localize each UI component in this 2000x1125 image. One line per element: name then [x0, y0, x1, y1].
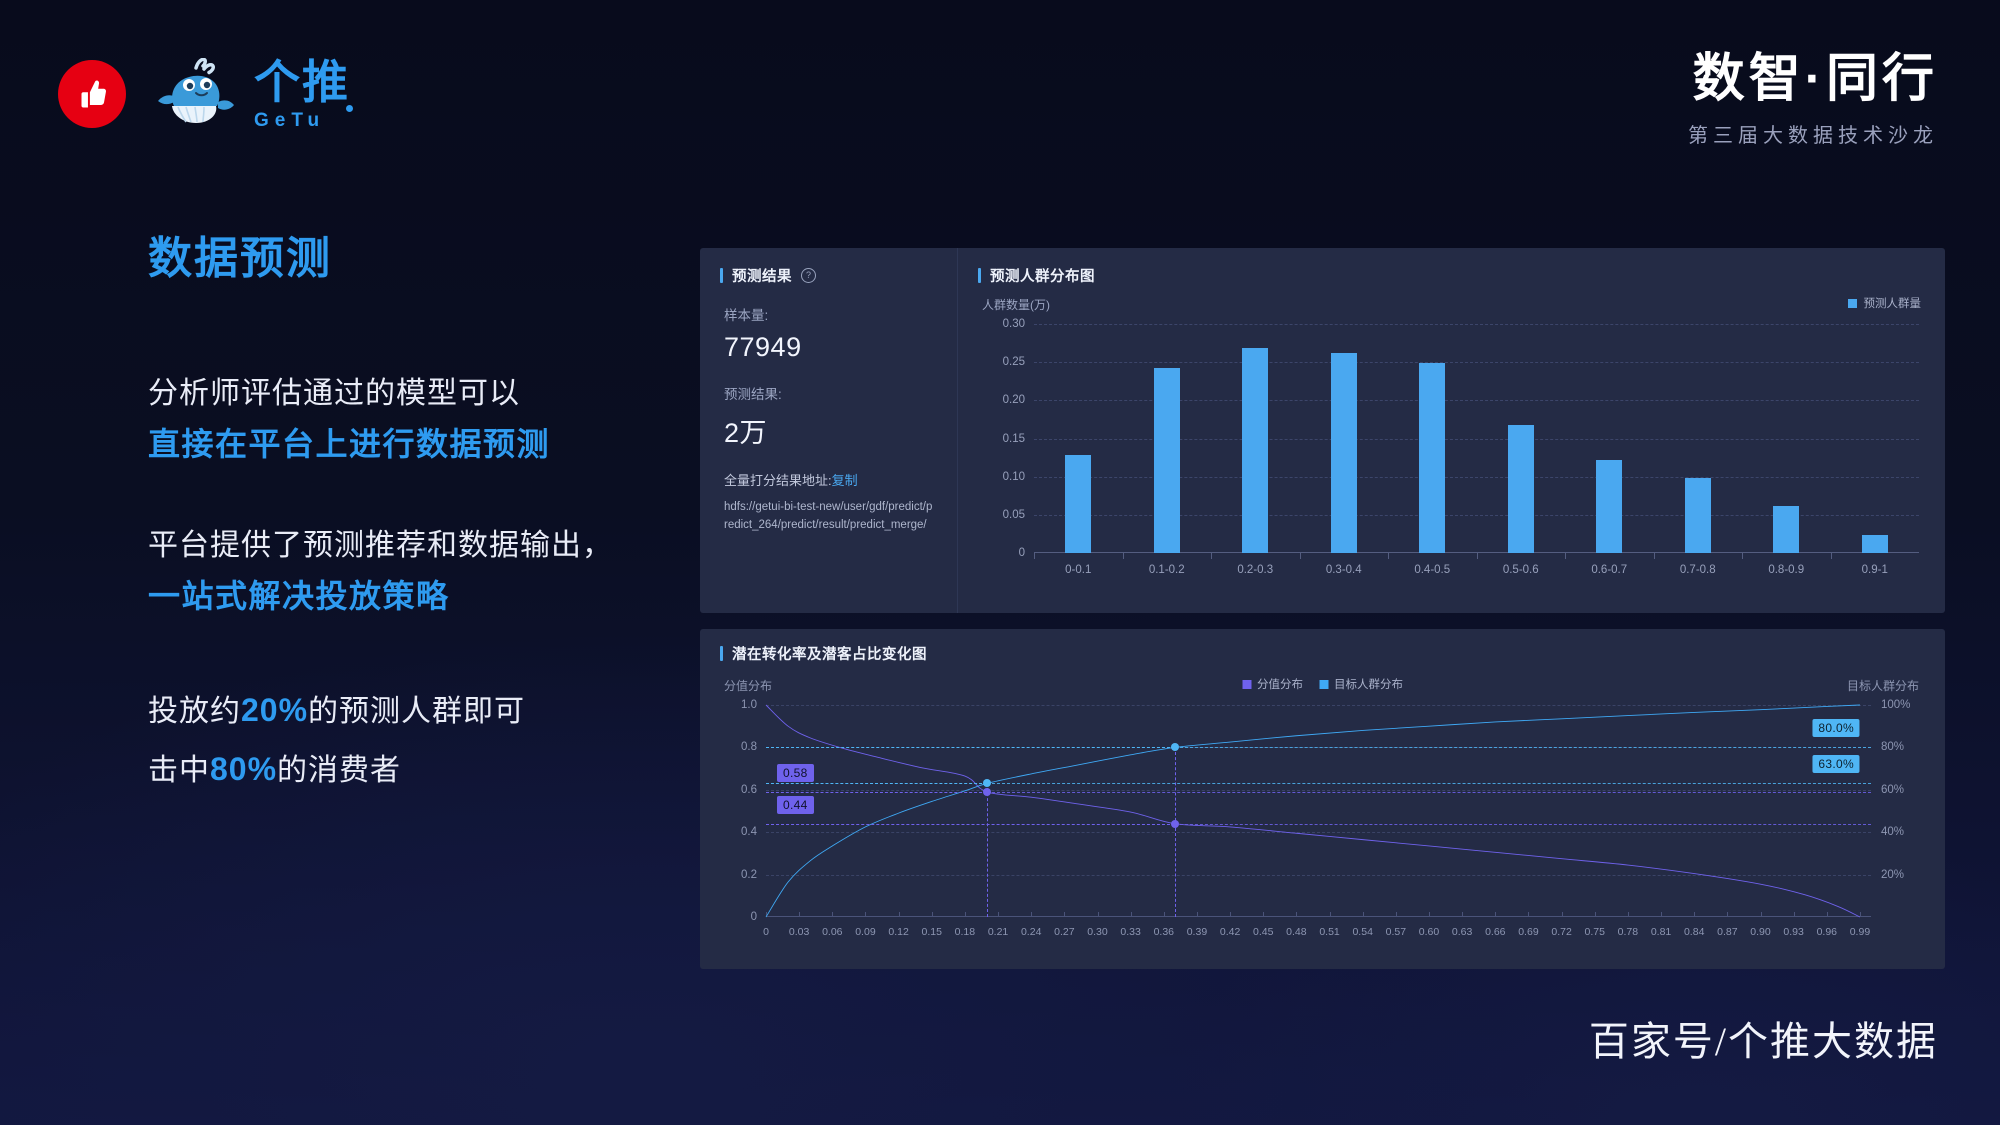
bar-chart-legend[interactable]: 预测人群量	[1848, 295, 1922, 311]
line-chart-y-tick: 0.8	[741, 741, 757, 753]
line-chart-y2-axis-label: 目标人群分布	[1847, 677, 1919, 694]
x-tick-mark	[1388, 553, 1389, 559]
bar-item[interactable]: 0-0.1	[1034, 324, 1123, 553]
stat-2-suffix: 的消费者	[277, 754, 401, 787]
line-chart-x-tick: 0.60	[1419, 926, 1439, 938]
bar-chart-x-tick: 0.3-0.4	[1326, 564, 1362, 576]
line-chart-x-tick: 0.18	[955, 926, 975, 938]
line-chart-y-tick: 0.6	[741, 784, 757, 796]
watermark: 百家号/个推大数据	[1589, 1009, 1938, 1067]
line-chart-x-tick: 0.90	[1750, 926, 1770, 938]
bar-chart-x-tick: 0.1-0.2	[1149, 564, 1185, 576]
bar-chart-x-tick: 0.4-0.5	[1414, 564, 1450, 576]
score-address-label: 全量打分结果地址:	[724, 473, 832, 488]
line-chart-legend[interactable]: 分值分布 目标人群分布	[1242, 676, 1403, 692]
marker-guide-vertical	[1175, 747, 1176, 917]
paragraph-1-line-1: 分析师评估通过的模型可以	[148, 370, 708, 419]
x-tick-mark	[1300, 553, 1301, 559]
x-tick-mark	[1654, 553, 1655, 559]
marker-guide-horizontal-right	[1175, 747, 1871, 748]
logo-en-label: GeTu	[254, 110, 325, 131]
line-chart-y-tick: 0	[751, 911, 757, 923]
predict-result-value: 2万	[724, 411, 935, 450]
line-series-score	[766, 705, 1860, 917]
slide-root: 个推 GeTu 数智·同行 第三届大数据技术沙龙 数据预测 分析师评估通过的模型…	[0, 0, 2000, 1125]
bar-chart-x-tick: 0.7-0.8	[1680, 564, 1716, 576]
crowd-distribution-title: 预测人群分布图	[990, 265, 1095, 286]
bar-chart-y-axis-label: 人群数量(万)	[982, 296, 1050, 313]
page-title: 数据预测	[148, 222, 708, 286]
bar-chart-y-tick: 0	[1019, 547, 1025, 559]
line-chart-x-tick: 0.27	[1054, 926, 1074, 938]
score-address-row: 全量打分结果地址:复制	[724, 470, 935, 489]
logo-text-en: GeTu	[254, 111, 350, 130]
line-chart-y-axis-label: 分值分布	[724, 677, 772, 694]
logo-text-cn: 个推	[254, 59, 350, 105]
x-tick-mark	[1565, 553, 1566, 559]
bar-chart-y-tick: 0.20	[1003, 394, 1025, 406]
left-content: 数据预测 分析师评估通过的模型可以 直接在平台上进行数据预测 平台提供了预测推荐…	[148, 222, 708, 799]
line-chart-plot-area: 00.20.40.60.81.020%40%60%80%100%00.030.0…	[766, 705, 1871, 917]
getui-logo: 个推 GeTu	[152, 58, 350, 130]
prediction-result-body: 样本量: 77949 预测结果: 2万 全量打分结果地址:复制 hdfs://g…	[700, 286, 957, 535]
line-chart-x-tick: 0.39	[1187, 926, 1207, 938]
thumbs-up-icon	[58, 60, 126, 128]
x-tick-mark	[1034, 553, 1035, 559]
marker-guide-horizontal	[766, 824, 1175, 825]
data-point-marker[interactable]	[1171, 743, 1179, 751]
line-chart-x-tick: 0.93	[1783, 926, 1803, 938]
prediction-result-title: 预测结果	[732, 265, 792, 286]
bar[interactable]	[1773, 506, 1799, 553]
legend-swatch-icon	[1848, 299, 1857, 308]
logo-dot-icon	[346, 105, 353, 112]
line-chart-y2-tick: 80%	[1881, 741, 1904, 753]
line-series-target	[766, 705, 1860, 917]
bar-chart-plot-area: 00.050.100.150.200.250.300-0.10.1-0.20.2…	[1034, 324, 1919, 553]
bar-chart-y-tick: 0.30	[1003, 318, 1025, 330]
bar[interactable]	[1419, 363, 1445, 553]
bar-item[interactable]: 0.8-0.9	[1742, 324, 1831, 553]
accent-bar	[978, 268, 981, 283]
stat-1-suffix: 的预测人群即可	[308, 695, 525, 728]
line-chart-x-tick: 0.30	[1087, 926, 1107, 938]
data-label-badge: 63.0%	[1812, 755, 1860, 773]
event-title: 数智·同行	[1688, 52, 1938, 107]
bar-item[interactable]: 0.1-0.2	[1123, 324, 1212, 553]
stat-line-2: 击中80%的消费者	[148, 740, 708, 799]
event-subtitle: 第三届大数据技术沙龙	[1688, 119, 1938, 148]
bar-chart-x-tick: 0-0.1	[1065, 564, 1091, 576]
marker-guide-horizontal-right	[1175, 824, 1871, 825]
x-tick-mark	[1211, 553, 1212, 559]
bar-chart-x-tick: 0.2-0.3	[1237, 564, 1273, 576]
conversion-curve-header: 潜在转化率及潜客占比变化图	[700, 629, 1945, 664]
bar[interactable]	[1596, 460, 1622, 553]
legend-label-score: 分值分布	[1257, 676, 1303, 692]
line-chart-x-tick: 0.54	[1352, 926, 1372, 938]
marker-guide-horizontal	[766, 792, 987, 793]
bar[interactable]	[1154, 368, 1180, 553]
bar-chart-x-tick: 0.6-0.7	[1591, 564, 1627, 576]
data-label-badge: 0.44	[777, 796, 814, 814]
marker-guide-horizontal	[766, 747, 1175, 748]
line-chart-x-tick: 0.57	[1386, 926, 1406, 938]
bar-chart-y-tick: 0.10	[1003, 471, 1025, 483]
data-point-marker[interactable]	[983, 779, 991, 787]
help-icon[interactable]: ?	[801, 268, 816, 283]
line-chart-x-tick: 0.06	[822, 926, 842, 938]
line-chart-y2-tick: 40%	[1881, 826, 1904, 838]
line-chart-y-tick: 0.2	[741, 869, 757, 881]
crowd-distribution-header: 预测人群分布图	[958, 248, 1945, 286]
accent-bar	[720, 646, 723, 661]
bar[interactable]	[1862, 535, 1888, 553]
brand-header: 个推 GeTu	[58, 58, 350, 130]
line-chart-x-tick: 0.96	[1817, 926, 1837, 938]
sample-size-value: 77949	[724, 332, 935, 363]
line-chart-y2-tick: 100%	[1881, 699, 1910, 711]
legend-label: 预测人群量	[1864, 295, 1922, 311]
marker-guide-horizontal	[766, 783, 987, 784]
line-chart-x-tick: 0.72	[1551, 926, 1571, 938]
legend-swatch-blue-icon	[1319, 680, 1328, 689]
line-chart-x-tick: 0.84	[1684, 926, 1704, 938]
conversion-curve-card: 潜在转化率及潜客占比变化图 分值分布 目标人群分布 分值分布 目标人群分布 00…	[700, 629, 1945, 969]
line-chart-x-tick: 0.81	[1651, 926, 1671, 938]
line-chart-x-tick: 0.24	[1021, 926, 1041, 938]
paragraph-2: 平台提供了预测推荐和数据输出， 一站式解决投放策略	[148, 522, 708, 622]
score-address-path: hdfs://getui-bi-test-new/user/gdf/predic…	[724, 499, 935, 535]
bar-item[interactable]: 0.9-1	[1831, 324, 1920, 553]
line-chart-y2-tick: 20%	[1881, 869, 1904, 881]
line-chart-x-tick: 0.87	[1717, 926, 1737, 938]
bar-chart-y-tick: 0.25	[1003, 356, 1025, 368]
line-chart-x-tick: 0.33	[1120, 926, 1140, 938]
bar[interactable]	[1508, 425, 1534, 553]
data-point-marker[interactable]	[983, 788, 991, 796]
x-tick-mark	[1831, 553, 1832, 559]
bar-item[interactable]: 0.7-0.8	[1654, 324, 1743, 553]
x-tick-mark	[1123, 553, 1124, 559]
legend-label-target: 目标人群分布	[1334, 676, 1403, 692]
marker-guide-vertical	[987, 783, 988, 917]
line-chart-x-tick: 0.75	[1585, 926, 1605, 938]
line-chart-x-tick: 0.03	[789, 926, 809, 938]
bar-chart-x-tick: 0.9-1	[1862, 564, 1888, 576]
x-tick-mark	[1477, 553, 1478, 559]
bar[interactable]	[1331, 353, 1357, 553]
bar-chart-x-tick: 0.5-0.6	[1503, 564, 1539, 576]
legend-swatch-purple-icon	[1242, 680, 1251, 689]
bar[interactable]	[1065, 455, 1091, 553]
line-chart-x-tick: 0.09	[855, 926, 875, 938]
bar-item[interactable]: 0.5-0.6	[1477, 324, 1566, 553]
line-chart-x-tick: 0.99	[1850, 926, 1870, 938]
bar-chart-x-tick: 0.8-0.9	[1768, 564, 1804, 576]
stat-1-number: 20%	[241, 692, 308, 728]
bar[interactable]	[1685, 478, 1711, 553]
prediction-result-card: 预测结果 ? 样本量: 77949 预测结果: 2万 全量打分结果地址:复制 h…	[700, 248, 958, 613]
line-chart-x-tick: 0	[763, 926, 769, 938]
sample-size-label: 样本量:	[724, 304, 935, 324]
marker-guide-horizontal-right	[987, 783, 1871, 784]
paragraph-2-line-2: 一站式解决投放策略	[148, 571, 708, 623]
bar-item[interactable]: 0.3-0.4	[1300, 324, 1389, 553]
line-chart-x-tick: 0.51	[1319, 926, 1339, 938]
top-panel: 预测结果 ? 样本量: 77949 预测结果: 2万 全量打分结果地址:复制 h…	[700, 248, 1945, 613]
line-chart-x-tick: 0.63	[1452, 926, 1472, 938]
bar-chart-y-tick: 0.15	[1003, 433, 1025, 445]
paragraph-2-line-1: 平台提供了预测推荐和数据输出，	[148, 522, 708, 571]
line-chart-x-tick: 0.48	[1286, 926, 1306, 938]
bar-series: 0-0.10.1-0.20.2-0.30.3-0.40.4-0.50.5-0.6…	[1034, 324, 1919, 553]
line-chart-y-tick: 1.0	[741, 699, 757, 711]
conversion-curve-title: 潜在转化率及潜客占比变化图	[732, 643, 927, 664]
legend-item-score[interactable]: 分值分布	[1242, 676, 1303, 692]
line-chart-x-tick: 0.15	[922, 926, 942, 938]
stat-1-prefix: 投放约	[148, 695, 241, 728]
line-chart-y2-tick: 60%	[1881, 784, 1904, 796]
data-label-badge: 0.58	[777, 764, 814, 782]
stat-2-prefix: 击中	[148, 754, 210, 787]
line-chart-x-tick: 0.36	[1154, 926, 1174, 938]
stat-line-1: 投放约20%的预测人群即可	[148, 681, 708, 740]
x-tick-mark	[1742, 553, 1743, 559]
event-header: 数智·同行 第三届大数据技术沙龙	[1688, 52, 1938, 148]
marker-guide-horizontal-right	[987, 792, 1871, 793]
stat-highlight: 投放约20%的预测人群即可 击中80%的消费者	[148, 681, 708, 799]
prediction-result-header: 预测结果 ?	[700, 248, 957, 286]
data-point-marker[interactable]	[1171, 820, 1179, 828]
line-chart-x-tick: 0.45	[1253, 926, 1273, 938]
paragraph-1: 分析师评估通过的模型可以 直接在平台上进行数据预测	[148, 370, 708, 470]
line-chart-x-tick: 0.21	[988, 926, 1008, 938]
bar-chart-y-tick: 0.05	[1003, 509, 1025, 521]
bar-item[interactable]: 0.4-0.5	[1388, 324, 1477, 553]
legend-item-target[interactable]: 目标人群分布	[1319, 676, 1403, 692]
dashboard-screenshot: 预测结果 ? 样本量: 77949 预测结果: 2万 全量打分结果地址:复制 h…	[700, 248, 1945, 969]
line-chart-x-tick: 0.69	[1518, 926, 1538, 938]
bar[interactable]	[1242, 348, 1268, 553]
stat-2-number: 80%	[210, 751, 277, 787]
line-chart-x-tick: 0.42	[1220, 926, 1240, 938]
accent-bar	[720, 268, 723, 283]
bar-item[interactable]: 0.6-0.7	[1565, 324, 1654, 553]
bar-item[interactable]: 0.2-0.3	[1211, 324, 1300, 553]
line-chart-y-tick: 0.4	[741, 826, 757, 838]
line-chart-x-tick: 0.12	[888, 926, 908, 938]
predict-result-label: 预测结果:	[724, 383, 935, 403]
copy-link[interactable]: 复制	[832, 473, 858, 488]
line-chart-x-tick: 0.78	[1618, 926, 1638, 938]
data-label-badge: 80.0%	[1812, 719, 1860, 737]
line-chart-x-tick: 0.66	[1485, 926, 1505, 938]
line-series-svg	[766, 705, 1871, 917]
crowd-distribution-card: 预测人群分布图 人群数量(万) 预测人群量 00.050.100.150.200…	[958, 248, 1945, 613]
paragraph-1-line-2: 直接在平台上进行数据预测	[148, 419, 708, 471]
whale-icon	[152, 58, 244, 130]
